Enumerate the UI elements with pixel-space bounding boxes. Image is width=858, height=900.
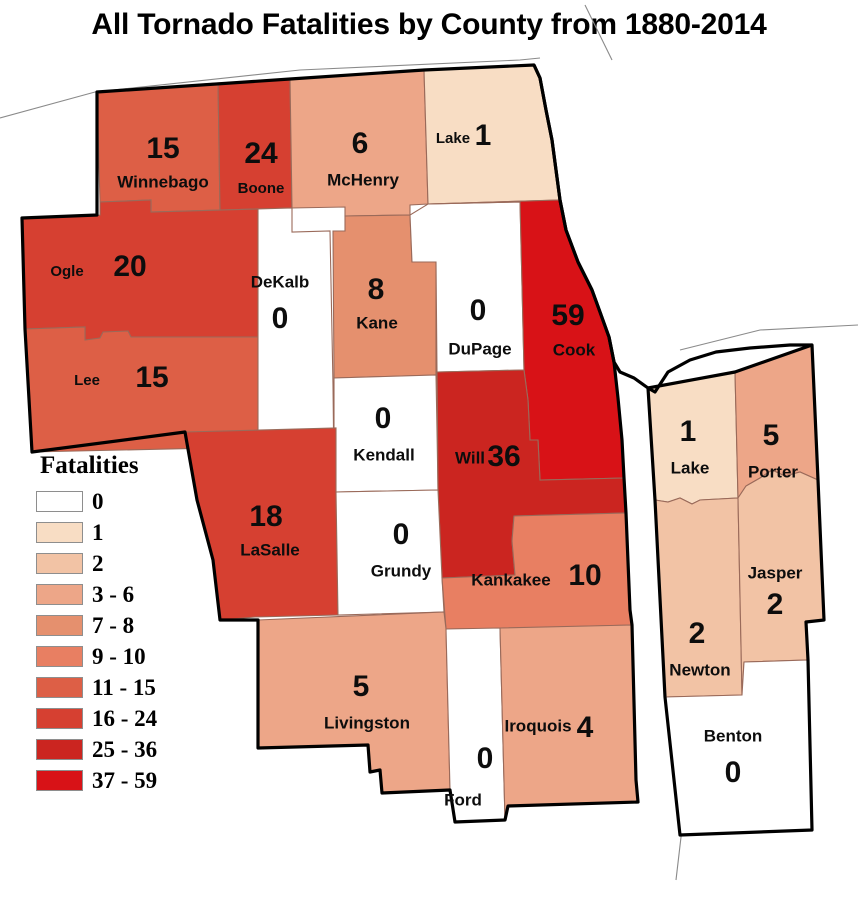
county-value-lake-il: 1 (475, 119, 492, 152)
legend-rows: 0123 - 67 - 89 - 1011 - 1516 - 2425 - 36… (36, 486, 157, 796)
county-value-mchenry: 6 (352, 127, 369, 160)
legend-swatch (36, 615, 83, 636)
legend-row[interactable]: 2 (36, 548, 157, 579)
legend-label: 1 (92, 520, 104, 546)
legend-row[interactable]: 1 (36, 517, 157, 548)
legend-row[interactable]: 9 - 10 (36, 641, 157, 672)
legend-label: 37 - 59 (92, 768, 157, 794)
legend-title: Fatalities (40, 452, 157, 480)
legend-row[interactable]: 37 - 59 (36, 765, 157, 796)
legend-row[interactable]: 25 - 36 (36, 734, 157, 765)
county-value-dekalb: 0 (272, 302, 289, 335)
legend-swatch (36, 553, 83, 574)
legend-swatch (36, 584, 83, 605)
county-name-jasper: Jasper (748, 563, 803, 582)
legend-swatch (36, 491, 83, 512)
legend-swatch (36, 677, 83, 698)
legend-row[interactable]: 3 - 6 (36, 579, 157, 610)
county-value-will: 36 (487, 440, 520, 473)
county-name-kankakee: Kankakee (471, 570, 550, 589)
county-value-kankakee: 10 (568, 559, 601, 592)
county-name-lee: Lee (74, 372, 100, 389)
county-name-lake-il: Lake (436, 130, 470, 147)
county-name-porter: Porter (748, 462, 798, 481)
county-value-porter: 5 (763, 419, 780, 452)
legend-swatch (36, 739, 83, 760)
county-value-dupage: 0 (470, 294, 487, 327)
county-name-lasalle: LaSalle (240, 540, 300, 559)
county-value-winnebago: 15 (146, 132, 179, 165)
county-name-dupage: DuPage (448, 339, 511, 358)
legend-label: 25 - 36 (92, 737, 157, 763)
legend-label: 0 (92, 489, 104, 515)
legend-swatch (36, 646, 83, 667)
county-name-cook: Cook (553, 340, 596, 359)
county-name-iroquois: Iroquois (504, 716, 571, 735)
county-value-boone: 24 (244, 137, 278, 170)
county-value-ford: 0 (477, 742, 494, 775)
legend-row[interactable]: 0 (36, 486, 157, 517)
county-name-mchenry: McHenry (327, 170, 399, 189)
county-value-cook: 59 (551, 299, 584, 332)
legend-label: 2 (92, 551, 104, 577)
legend-swatch (36, 708, 83, 729)
county-value-lasalle: 18 (249, 500, 282, 533)
county-value-lee: 15 (135, 361, 168, 394)
county-value-kane: 8 (368, 273, 385, 306)
map-legend: Fatalities 0123 - 67 - 89 - 1011 - 1516 … (36, 452, 157, 796)
county-name-livingston: Livingston (324, 713, 410, 732)
legend-label: 11 - 15 (92, 675, 156, 701)
legend-row[interactable]: 16 - 24 (36, 703, 157, 734)
county-name-benton: Benton (704, 726, 763, 745)
county-name-ford: Ford (444, 790, 482, 809)
legend-label: 9 - 10 (92, 644, 146, 670)
county-name-lake-in: Lake (671, 458, 710, 477)
county-value-kendall: 0 (375, 402, 392, 435)
county-value-grundy: 0 (393, 518, 410, 551)
county-name-kendall: Kendall (353, 445, 414, 464)
county-name-winnebago: Winnebago (117, 172, 208, 191)
legend-label: 7 - 8 (92, 613, 134, 639)
county-value-ogle: 20 (113, 250, 146, 283)
legend-swatch (36, 522, 83, 543)
legend-swatch (36, 770, 83, 791)
legend-row[interactable]: 7 - 8 (36, 610, 157, 641)
county-name-newton: Newton (669, 660, 730, 679)
county-name-grundy: Grundy (371, 561, 432, 580)
county-value-jasper: 2 (767, 588, 784, 621)
county-name-kane: Kane (356, 313, 398, 332)
county-name-ogle: Ogle (50, 263, 83, 280)
county-grundy[interactable] (336, 490, 444, 615)
county-name-dekalb: DeKalb (251, 272, 310, 291)
county-value-livingston: 5 (353, 670, 370, 703)
county-value-newton: 2 (689, 617, 706, 650)
county-name-will: Will (455, 448, 485, 467)
legend-label: 3 - 6 (92, 582, 134, 608)
legend-row[interactable]: 11 - 15 (36, 672, 157, 703)
county-name-boone: Boone (238, 180, 285, 197)
county-value-lake-in: 1 (680, 415, 697, 448)
county-value-iroquois: 4 (577, 711, 594, 744)
county-value-benton: 0 (725, 756, 742, 789)
legend-label: 16 - 24 (92, 706, 157, 732)
